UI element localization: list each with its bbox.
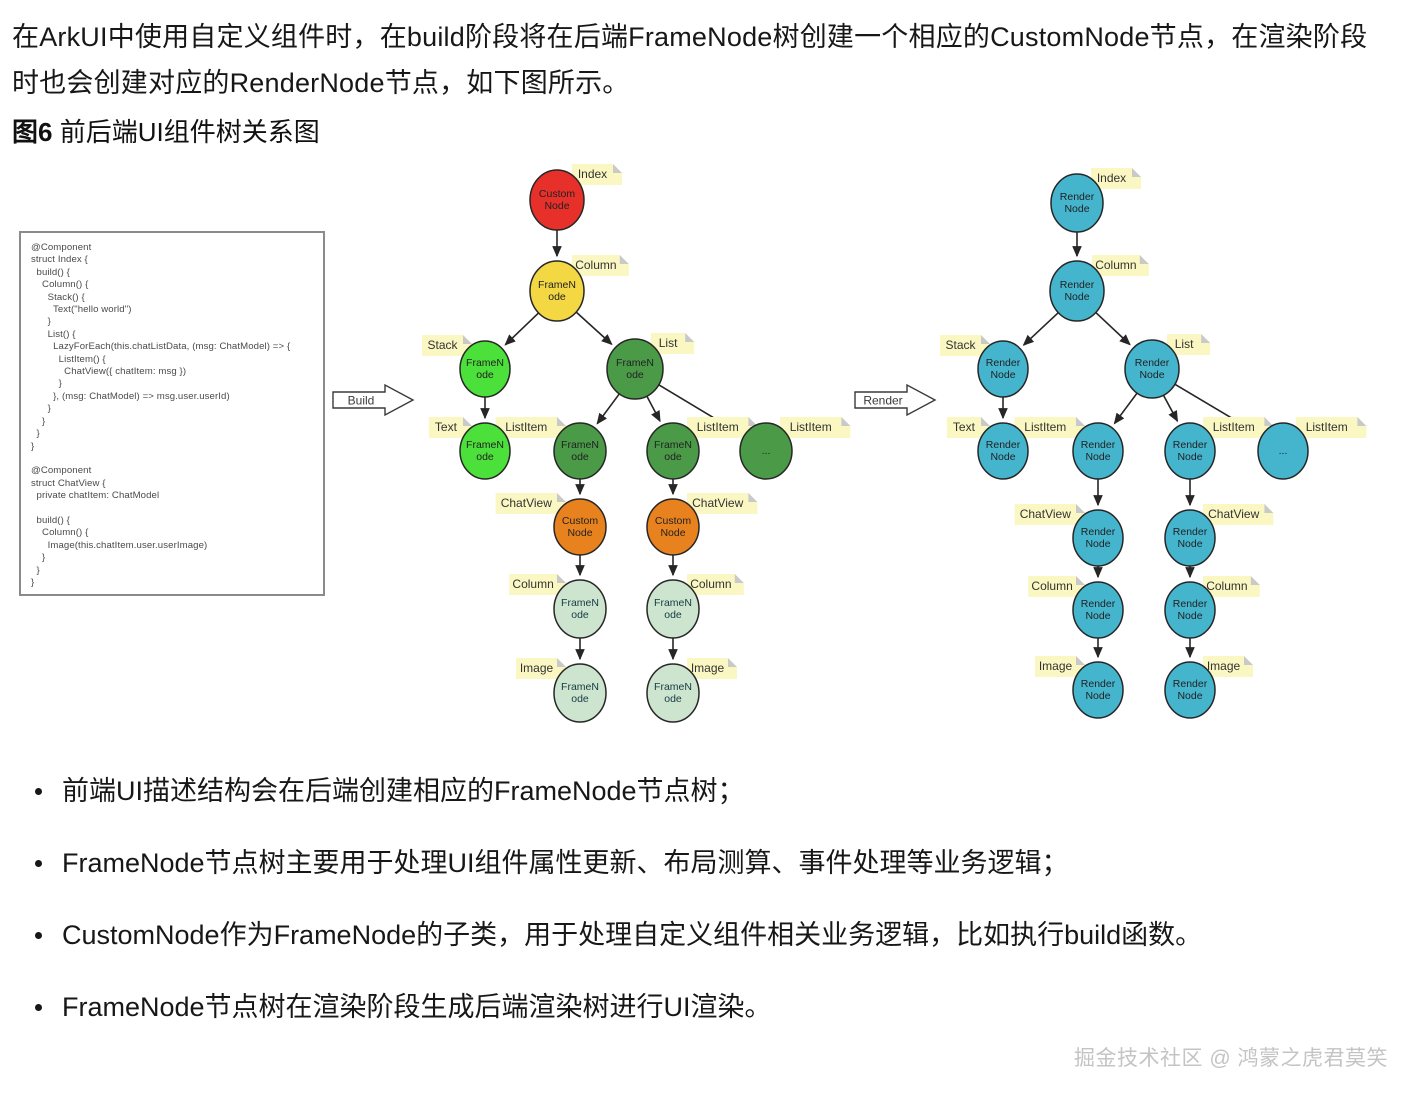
node-label: FrameN: [654, 439, 692, 451]
node-note: ChatView: [496, 493, 566, 514]
node-label: ode: [476, 369, 494, 381]
list-item: CustomNode作为FrameNode的子类，用于处理自定义组件相关业务逻辑…: [24, 912, 1384, 958]
note-label: Stack: [945, 338, 976, 352]
tree-node: FrameNode: [607, 339, 663, 399]
tree-node: CustomNode: [530, 170, 584, 230]
node-note: ChatView: [1015, 504, 1085, 525]
node-note: Column: [1203, 576, 1260, 597]
node-label: Node: [567, 527, 592, 539]
note-label: Stack: [427, 338, 458, 352]
tree-node: RenderNode: [1165, 423, 1215, 479]
tree-node: FrameNode: [530, 261, 584, 321]
note-label: Text: [435, 420, 458, 434]
node-note: Column: [1028, 576, 1085, 597]
tree-node: CustomNode: [647, 499, 699, 555]
node-label: Render: [1081, 598, 1116, 610]
tree-node: RenderNode: [1050, 261, 1104, 321]
node-note: ListItem: [1296, 417, 1366, 438]
note-label: List: [1175, 337, 1194, 351]
node-label: Node: [1177, 610, 1202, 622]
tree-edge: [1024, 312, 1060, 345]
figure-number: 图6: [12, 117, 52, 147]
node-label: FrameN: [561, 439, 599, 451]
node-label: Custom: [655, 515, 691, 527]
tree-node: RenderNode: [1073, 510, 1123, 566]
tree-node: RenderNode: [1073, 582, 1123, 638]
node-label: ode: [664, 451, 682, 463]
tree-edge: [597, 393, 620, 424]
node-label: Node: [1139, 369, 1164, 381]
tree-node: RenderNode: [1165, 582, 1215, 638]
tree-node: ...: [1258, 423, 1308, 479]
node-label: Node: [990, 369, 1015, 381]
note-label: Image: [691, 661, 725, 675]
tree-node: FrameNode: [554, 664, 606, 722]
node-note: ListItem: [1015, 417, 1085, 438]
node-label: FrameN: [466, 357, 504, 369]
node-note: ChatView: [687, 493, 757, 514]
note-label: Image: [520, 661, 554, 675]
node-label: Node: [1085, 610, 1110, 622]
tree-node: FrameNode: [647, 580, 699, 638]
node-label: Custom: [562, 515, 598, 527]
node-label: Render: [1173, 526, 1208, 538]
note-label: ListItem: [1024, 420, 1066, 434]
tree-node: RenderNode: [978, 423, 1028, 479]
list-item: FrameNode节点树主要用于处理UI组件属性更新、布局测算、事件处理等业务逻…: [24, 840, 1384, 886]
node-label: Render: [986, 357, 1021, 369]
node-label: FrameN: [561, 681, 599, 693]
node-label: FrameN: [616, 357, 654, 369]
note-label: Image: [1207, 659, 1241, 673]
note-label: Column: [690, 577, 731, 591]
tree-node: CustomNode: [554, 499, 606, 555]
node-label: Render: [1081, 526, 1116, 538]
node-label: Node: [990, 451, 1015, 463]
note-label: ChatView: [692, 496, 743, 510]
node-label: ...: [1279, 445, 1288, 457]
node-label: ode: [548, 291, 566, 303]
component-tree-diagram: IndexColumnStackListTextListItemListItem…: [0, 150, 1410, 750]
node-label: Render: [1060, 191, 1095, 203]
node-label: Node: [544, 200, 569, 212]
note-label: Index: [578, 167, 607, 181]
node-label: ode: [571, 693, 589, 705]
node-label: Node: [1064, 203, 1089, 215]
note-label: Column: [1031, 579, 1072, 593]
note-label: Column: [575, 258, 616, 272]
tree-node: FrameNode: [647, 423, 699, 479]
node-label: ode: [626, 369, 644, 381]
note-label: Column: [512, 577, 553, 591]
node-label: ode: [664, 693, 682, 705]
tree-node: RenderNode: [1073, 662, 1123, 718]
tree-node: FrameNode: [554, 423, 606, 479]
summary-bullet-list: 前端UI描述结构会在后端创建相应的FrameNode节点树； FrameNode…: [24, 768, 1384, 1056]
list-item: FrameNode节点树在渲染阶段生成后端渲染树进行UI渲染。: [24, 984, 1384, 1030]
tree-edge: [1114, 392, 1137, 423]
node-label: Render: [1081, 439, 1116, 451]
node-label: Node: [1085, 690, 1110, 702]
note-label: ListItem: [697, 420, 739, 434]
watermark: 掘金技术社区 @ 鸿蒙之虎君莫笑: [1074, 1042, 1388, 1072]
note-label: List: [659, 336, 678, 350]
tree-node: RenderNode: [1165, 662, 1215, 718]
tree-node: FrameNode: [460, 341, 510, 397]
node-label: Render: [1135, 357, 1170, 369]
note-label: Image: [1039, 659, 1073, 673]
node-label: FrameN: [466, 439, 504, 451]
node-label: FrameN: [654, 681, 692, 693]
node-label: Node: [1085, 451, 1110, 463]
tree-node: RenderNode: [1051, 174, 1103, 232]
node-note: Column: [509, 574, 566, 595]
phase-arrow-label: Build: [348, 394, 375, 408]
node-note: ChatView: [1203, 504, 1273, 525]
diagram-svg: IndexColumnStackListTextListItemListItem…: [0, 150, 1410, 750]
note-label: ListItem: [1213, 420, 1255, 434]
tree-node: ...: [740, 423, 792, 479]
node-label: Render: [1081, 678, 1116, 690]
note-label: ChatView: [1208, 507, 1259, 521]
note-label: ListItem: [1306, 420, 1348, 434]
note-label: ChatView: [501, 496, 552, 510]
node-label: Render: [1173, 678, 1208, 690]
node-label: Node: [1177, 690, 1202, 702]
phase-arrow-render: Render: [855, 385, 935, 415]
tree-node: RenderNode: [978, 341, 1028, 397]
tree-edge: [505, 312, 539, 345]
node-label: Node: [1177, 538, 1202, 550]
node-label: Render: [986, 439, 1021, 451]
node-label: Node: [1177, 451, 1202, 463]
node-note: Index: [572, 164, 622, 185]
figure-title: 前后端UI组件树关系图: [60, 117, 320, 147]
node-note: ListItem: [780, 417, 850, 438]
note-label: ListItem: [505, 420, 547, 434]
tree-node: RenderNode: [1073, 423, 1123, 479]
note-label: Column: [1206, 579, 1247, 593]
node-label: Node: [660, 527, 685, 539]
note-label: Text: [953, 420, 976, 434]
node-note: Column: [687, 574, 744, 595]
diagram-nodes: CustomNodeFrameNodeFrameNodeFrameNodeFra…: [460, 170, 1308, 722]
note-label: ListItem: [790, 420, 832, 434]
node-label: ode: [476, 451, 494, 463]
note-label: Column: [1095, 258, 1136, 272]
node-label: Render: [1173, 598, 1208, 610]
node-label: ...: [762, 445, 771, 457]
node-label: Render: [1173, 439, 1208, 451]
node-label: FrameN: [654, 597, 692, 609]
tree-edge: [646, 395, 660, 421]
tree-node: FrameNode: [460, 423, 510, 479]
list-item: 前端UI描述结构会在后端创建相应的FrameNode节点树；: [24, 768, 1384, 814]
note-label: ChatView: [1020, 507, 1071, 521]
node-label: Node: [1064, 291, 1089, 303]
phase-arrow-label: Render: [863, 394, 902, 408]
tree-edge: [1095, 312, 1130, 345]
intro-paragraph: 在ArkUI中使用自定义组件时，在build阶段将在后端FrameNode树创建…: [12, 14, 1382, 106]
tree-edge: [575, 311, 612, 344]
note-label: Index: [1097, 171, 1126, 185]
node-label: Node: [1085, 538, 1110, 550]
tree-node: RenderNode: [1165, 510, 1215, 566]
node-label: Custom: [539, 188, 575, 200]
node-label: ode: [571, 609, 589, 621]
node-label: Render: [1060, 279, 1095, 291]
figure-caption: 图6 前后端UI组件树关系图: [12, 112, 320, 152]
tree-node: FrameNode: [647, 664, 699, 722]
node-note: Column: [572, 255, 629, 276]
node-label: ode: [571, 451, 589, 463]
node-label: FrameN: [538, 279, 576, 291]
tree-node: FrameNode: [554, 580, 606, 638]
node-label: ode: [664, 609, 682, 621]
tree-node: RenderNode: [1125, 340, 1179, 398]
phase-arrow-build: Build: [333, 385, 413, 415]
node-note: Column: [1092, 255, 1149, 276]
node-label: FrameN: [561, 597, 599, 609]
tree-edge: [1163, 394, 1178, 421]
